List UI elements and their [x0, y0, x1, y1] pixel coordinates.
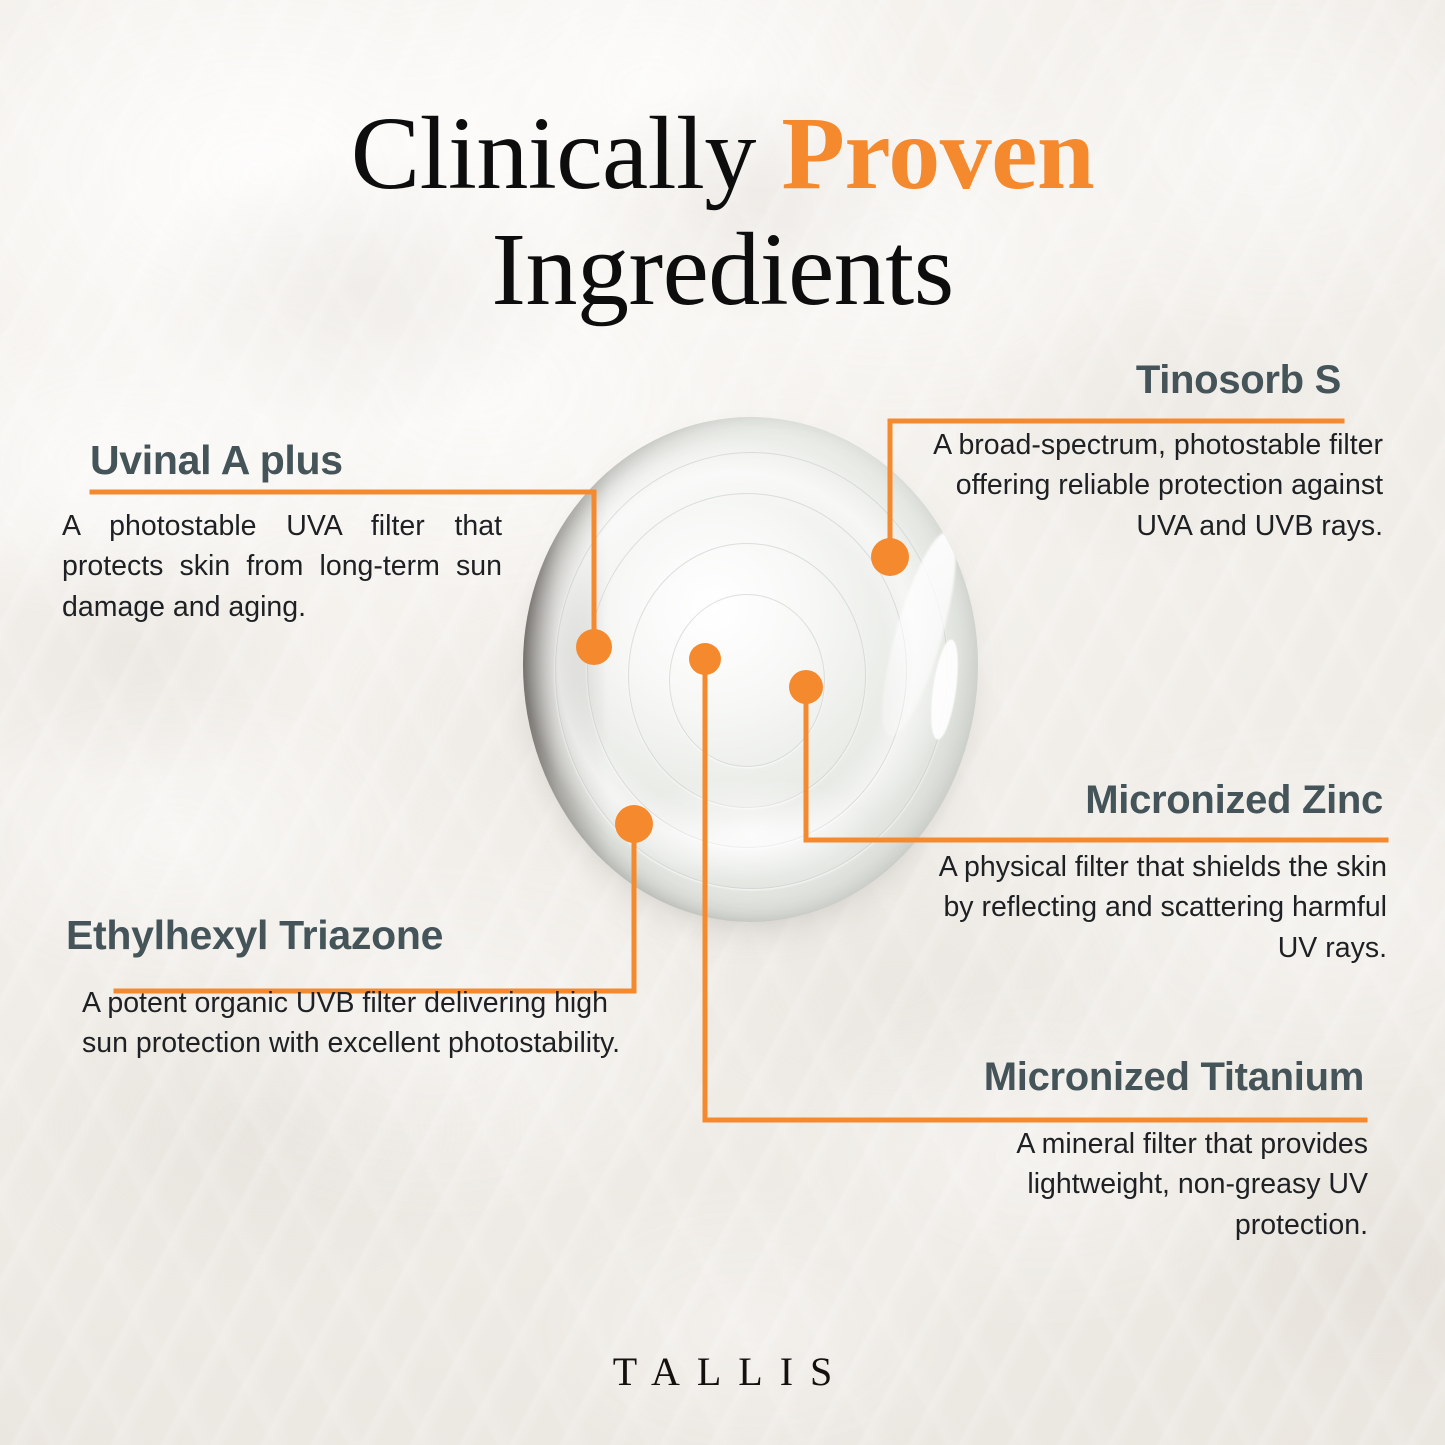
- marker-dot-tinosorb[interactable]: [871, 538, 909, 576]
- marker-dot-titanium[interactable]: [689, 643, 721, 675]
- ingredient-title-zinc: Micronized Zinc: [905, 778, 1387, 823]
- marker-dot-zinc[interactable]: [789, 670, 823, 704]
- ingredient-micronized-zinc: Micronized Zinc A physical filter that s…: [905, 778, 1387, 968]
- infographic-canvas: Clinically Proven Ingredients: [0, 0, 1445, 1445]
- ingredient-title-tinosorb: Tinosorb S: [905, 358, 1383, 403]
- ingredient-title-titanium: Micronized Titanium: [700, 1055, 1368, 1100]
- ingredient-uvinal: Uvinal A plus A photostable UVA filter t…: [62, 438, 512, 627]
- marker-dot-uvinal[interactable]: [576, 629, 612, 665]
- ingredient-description-uvinal: A photostable UVA filter that protects s…: [62, 506, 512, 627]
- marker-dot-ethylhexyl[interactable]: [615, 805, 653, 843]
- ingredient-description-tinosorb: A broad-spectrum, photostable filter off…: [905, 425, 1383, 546]
- brand-logo-tallis: TALLIS: [0, 1348, 1445, 1395]
- ingredient-description-titanium: A mineral filter that provides lightweig…: [700, 1124, 1368, 1245]
- ingredient-title-ethylhexyl: Ethylhexyl Triazone: [62, 913, 632, 959]
- ingredient-title-uvinal: Uvinal A plus: [62, 438, 512, 484]
- ingredient-ethylhexyl-triazone: Ethylhexyl Triazone A potent organic UVB…: [62, 913, 632, 1064]
- ingredient-description-zinc: A physical filter that shields the skin …: [905, 847, 1387, 968]
- ingredient-tinosorb: Tinosorb S A broad-spectrum, photostable…: [905, 358, 1383, 546]
- ingredient-micronized-titanium: Micronized Titanium A mineral filter tha…: [700, 1055, 1368, 1245]
- ingredient-description-ethylhexyl: A potent organic UVB filter delivering h…: [62, 983, 632, 1064]
